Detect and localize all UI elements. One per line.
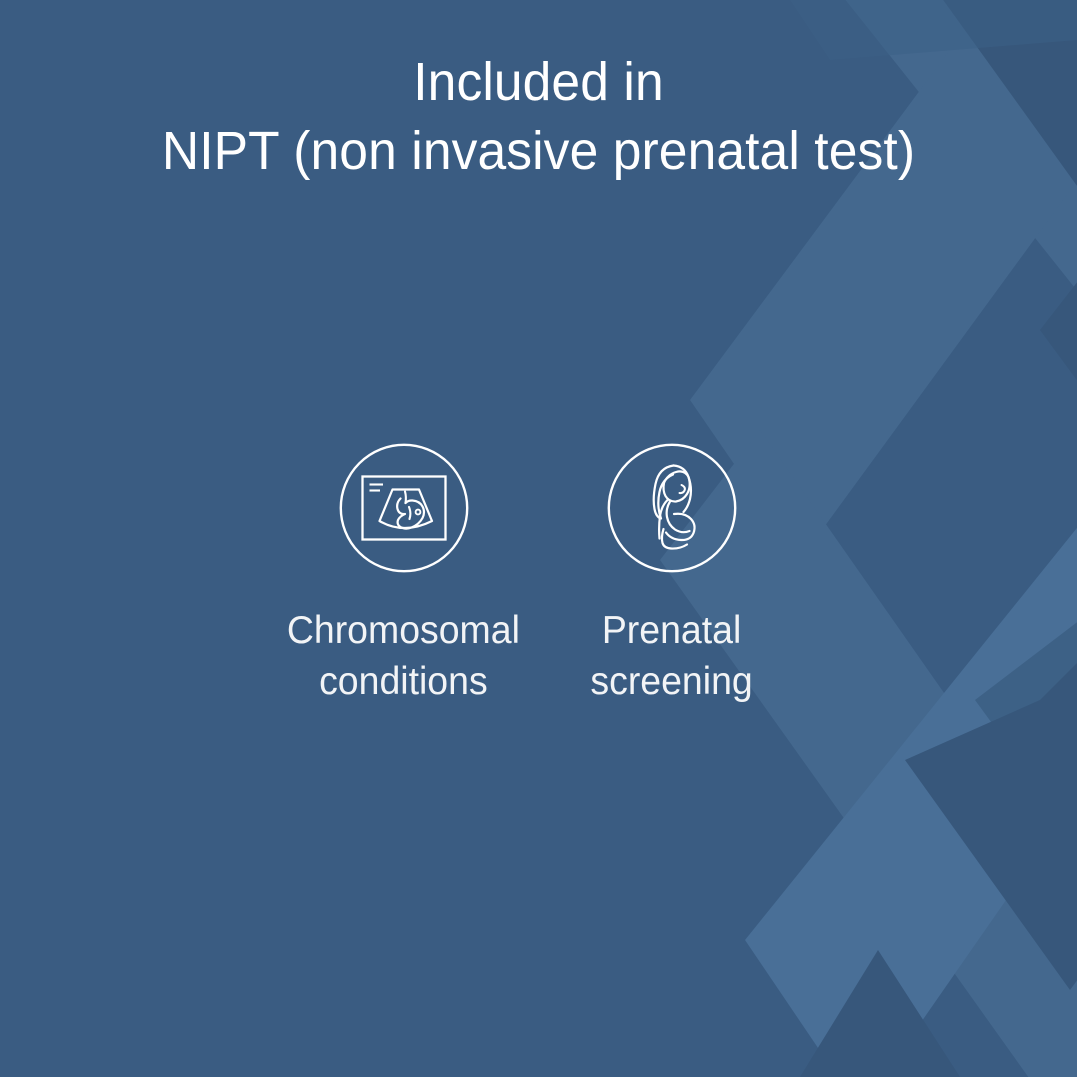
pregnant-woman-icon [607, 443, 737, 573]
slide-canvas: Included in NIPT (non invasive prenatal … [0, 0, 1077, 1077]
chevron-shape-dark [800, 950, 960, 1077]
title-line-2: NIPT (non invasive prenatal test) [24, 117, 1053, 186]
title-line-1: Included in [24, 48, 1053, 117]
feature-item-chromosomal-conditions: Chromosomal conditions [271, 443, 537, 707]
ultrasound-scan-icon [339, 443, 469, 573]
feature-item-prenatal-screening: Prenatal screening [537, 443, 807, 707]
feature-list: Chromosomal conditions [0, 443, 1077, 707]
feature-label: Chromosomal conditions [287, 605, 520, 707]
page-title: Included in NIPT (non invasive prenatal … [0, 48, 1077, 186]
feature-label: Prenatal screening [590, 605, 752, 707]
